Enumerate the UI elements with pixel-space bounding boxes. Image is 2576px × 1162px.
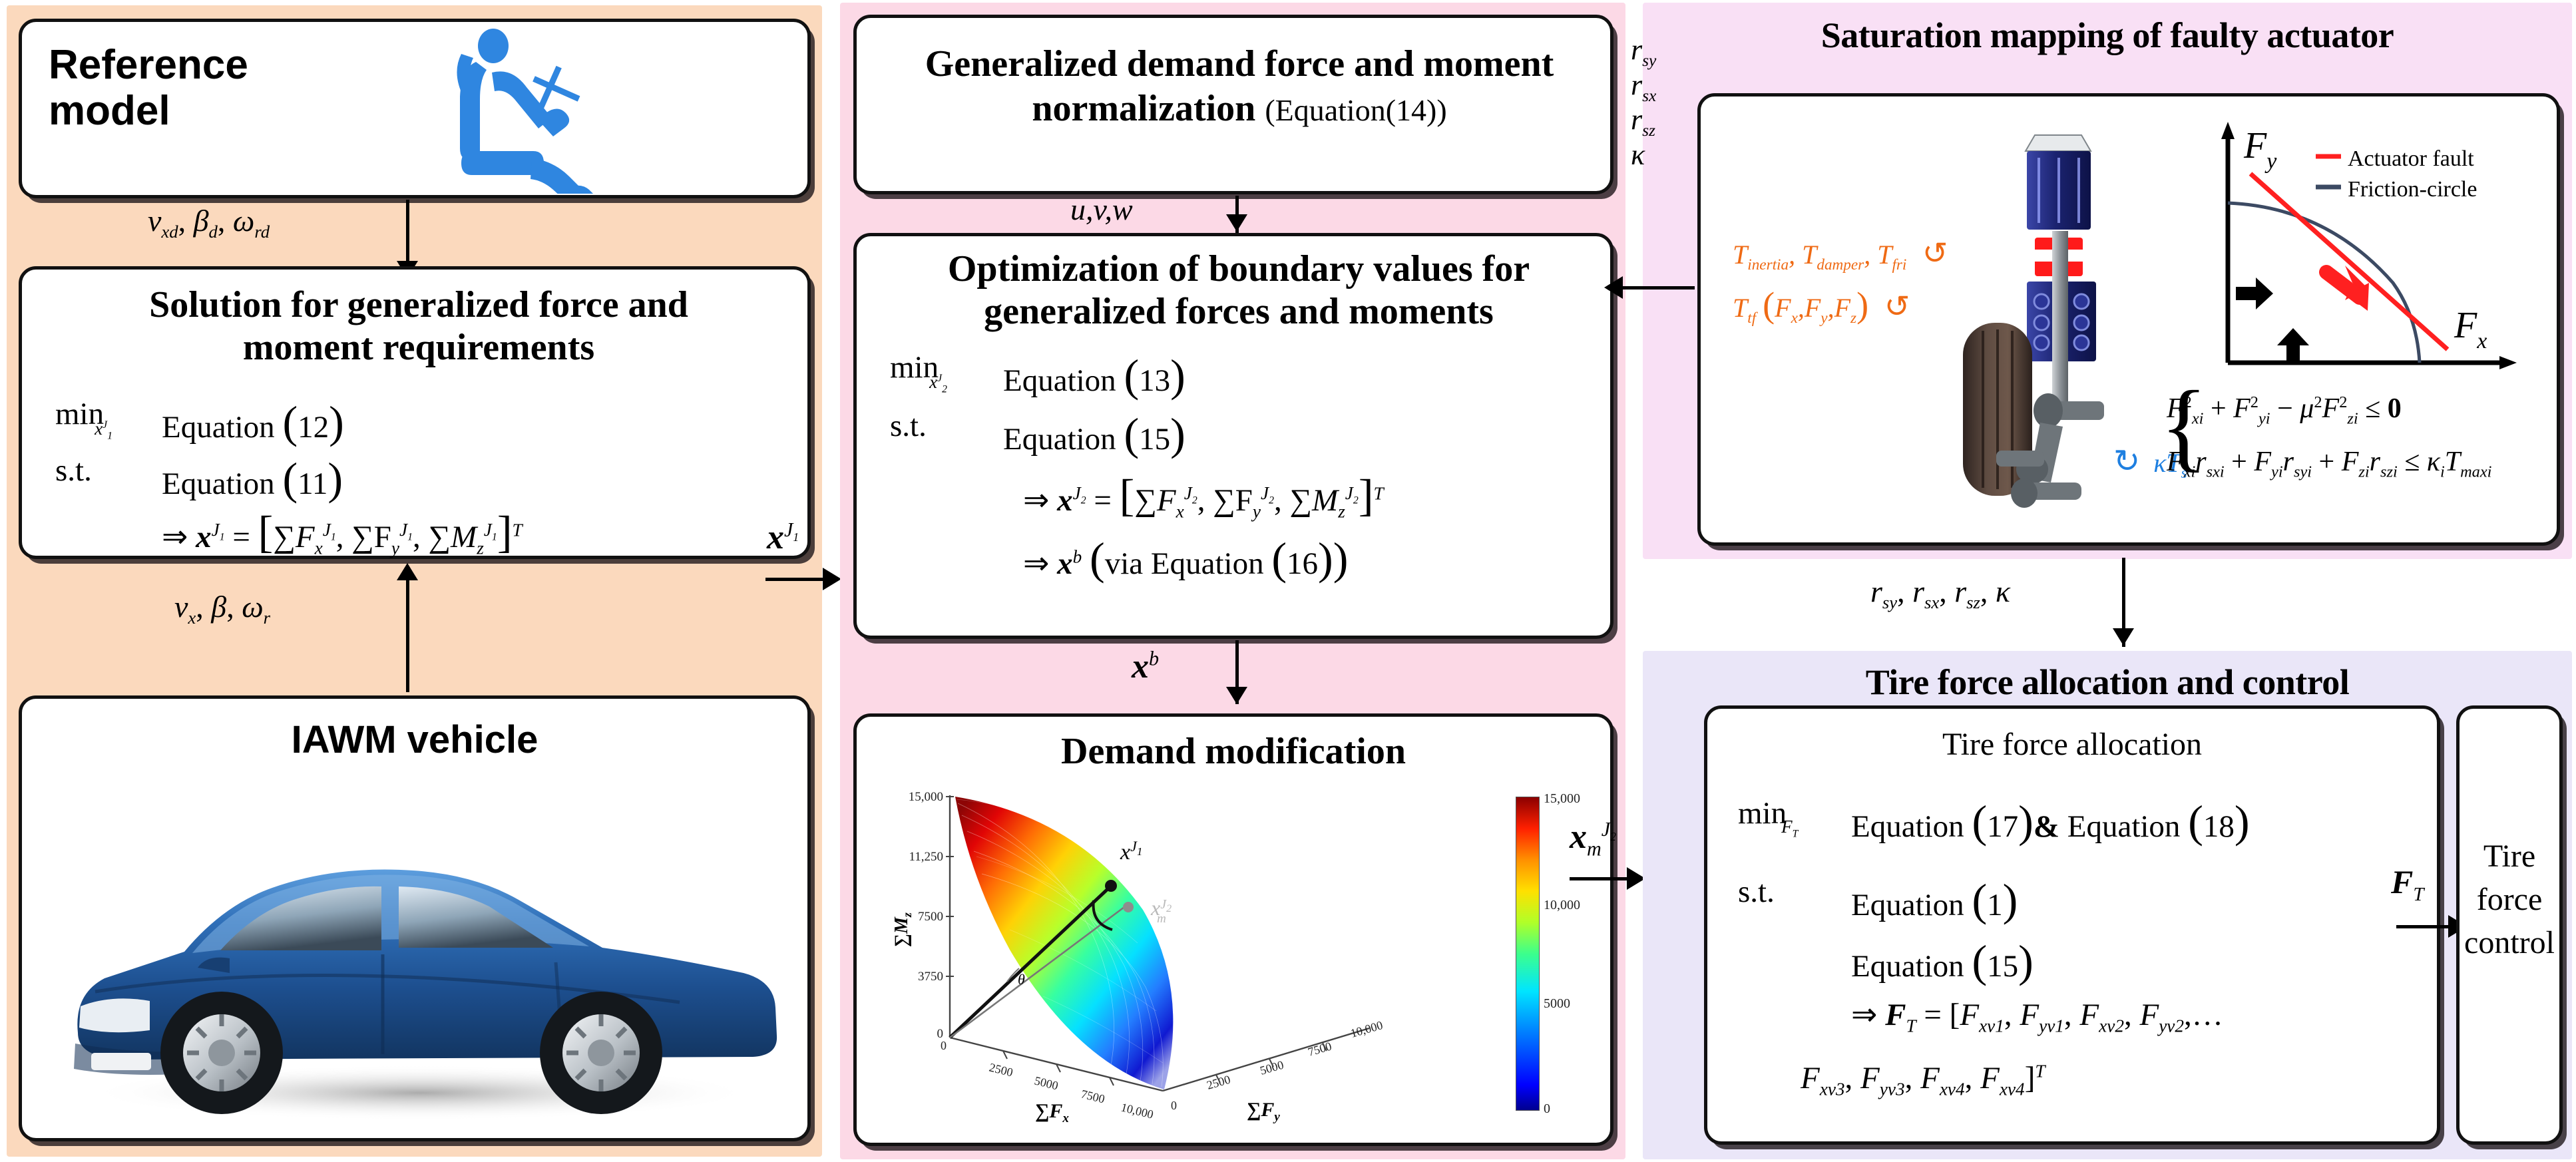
colorbar-tick-0: 0: [1544, 1101, 1550, 1117]
svg-text:10,000: 10,000: [1349, 1018, 1385, 1040]
optimization-result-vector: ⇒ xJ2 = [∑FxJ2, ∑FyJ2, ∑MzJ2]T: [1023, 469, 1384, 522]
allocation-st-equation-1: Equation (1): [1851, 874, 2018, 926]
svg-text:7500: 7500: [918, 910, 943, 924]
tire-force-allocation-box: Tire force allocation minFT Equation (17…: [1704, 705, 2440, 1145]
arrowhead-optimization-to-demand: [1226, 687, 1247, 704]
optimization-min-equation: Equation (13): [1003, 349, 1185, 402]
surface-colorbar: [1516, 797, 1540, 1111]
friction-plot-xlabel: Fx: [2454, 305, 2487, 353]
svg-text:15,000: 15,000: [909, 790, 943, 804]
driver-seat-icon: [415, 27, 621, 194]
colorbar-tick-10000: 10,000: [1544, 898, 1580, 913]
allocation-st-equation-2: Equation (15): [1851, 935, 2034, 988]
reference-model-box: Reference model: [19, 19, 811, 198]
label-kappa: κ: [1631, 140, 1656, 170]
torque-line-2: Ttf (Fx,Fy,Fz) ↻: [1733, 278, 1948, 333]
optimization-boundary-values-box: Optimization of boundary values for gene…: [853, 233, 1613, 639]
flowchart-root: Reference model vxd, βd, ωrd Solut: [0, 0, 2576, 1162]
svg-text:10,000: 10,000: [1120, 1100, 1155, 1121]
svg-text:2500: 2500: [988, 1060, 1014, 1079]
svg-text:2500: 2500: [1205, 1073, 1232, 1092]
connector-label-xb: xb: [1132, 647, 1159, 686]
solution-st-label: s.t.: [55, 453, 92, 488]
reference-model-title: Reference model: [49, 42, 328, 134]
allocation-subtitle: Tire force allocation: [1707, 726, 2437, 763]
svg-text:11,250: 11,250: [909, 850, 943, 864]
demand-modification-box: Demand modification: [853, 713, 1613, 1146]
zaxis-label: ∑Mz: [891, 912, 914, 947]
solution-min-equation: Equation (12): [162, 396, 344, 449]
solution-title-line2: moment requirements: [243, 327, 594, 368]
tfc-line3: control: [2464, 925, 2555, 960]
tire-force-control-box: Tire force control: [2456, 705, 2563, 1145]
iawm-vehicle-box: IAWM vehicle: [19, 695, 811, 1141]
connector-saturation-to-optimization: [1621, 286, 1695, 290]
annotation-xJ1: xJ1: [1120, 838, 1142, 865]
actuator-torque-expressions: Tinertia, Tdamper, Tfri ↻ Ttf (Fx,Fy,Fz)…: [1733, 230, 1948, 333]
solution-title-line1: Solution for generalized force and: [149, 284, 688, 325]
arrowhead-normalization-to-optimization: [1226, 214, 1247, 232]
connector-allocation-to-control: [2396, 925, 2451, 928]
allocation-st-label: s.t.: [1738, 874, 1775, 910]
reference-model-title-line1: Reference: [49, 42, 248, 88]
allocation-result-line2: Fxv3, Fyv3, Fxv4, Fxv4]T: [1801, 1060, 2045, 1099]
optimization-st-label: s.t.: [890, 408, 927, 444]
label-rsy: rsy: [1631, 35, 1656, 70]
saturation-mapping-box: Tinertia, Tdamper, Tfri ↻ Ttf (Fx,Fy,Fz)…: [1697, 93, 2560, 546]
optimization-title-line2: generalized forces and moments: [984, 291, 1494, 332]
rotation-arrow-icon-2: ↻: [1884, 283, 1910, 330]
tfc-line2: force: [2477, 882, 2543, 917]
optimization-min-label: minxJ2: [890, 349, 957, 385]
connector-label-vxd-betad-omegard: vxd, βd, ωrd: [148, 203, 270, 242]
connector-left-to-middle: [765, 578, 824, 581]
friction-circle-plot: Fy Fx Actuator fault Friction-circle: [2193, 116, 2539, 383]
arrowhead-vehicle-to-solution: [397, 563, 418, 580]
connector-label-uvw: u,v,w: [1070, 192, 1133, 227]
connector-vehicle-to-solution: [406, 579, 409, 692]
xaxis-label: ∑Fx: [1035, 1100, 1069, 1125]
solution-box-title: Solution for generalized force and momen…: [39, 284, 798, 369]
colorbar-tick-15000: 15,000: [1544, 791, 1580, 807]
rotation-arrow-icon-1: ↻: [1922, 230, 1948, 277]
connector-label-vx-beta-omegar: vx, β, ωr: [174, 589, 270, 628]
blue-sedan-car-image: [55, 792, 781, 1125]
demand-modification-title: Demand modification: [857, 730, 1610, 773]
svg-text:0: 0: [1171, 1099, 1177, 1112]
svg-text:5000: 5000: [1033, 1073, 1060, 1092]
solution-min-label: minxJ1: [55, 396, 122, 432]
optimization-title: Optimization of boundary values for gene…: [874, 248, 1604, 333]
annotation-xmJ2: xJ2m: [1150, 896, 1172, 926]
connector-label-rs-kappa-vertical: rsy rsx rsz κ: [1631, 35, 1656, 170]
optimization-title-line1: Optimization of boundary values for: [948, 248, 1530, 290]
iawm-vehicle-title: IAWM vehicle: [22, 717, 807, 762]
connector-label-rs-kappa-horizontal: rsy, rsx, rsz, κ: [1870, 574, 2010, 613]
svg-text:7500: 7500: [1080, 1087, 1106, 1105]
connector-middle-to-allocation: [1570, 877, 1629, 880]
svg-text:0: 0: [941, 1039, 947, 1052]
normalization-equation-ref: (Equation(14)): [1265, 93, 1446, 127]
allocation-panel-title: Tire force allocation and control: [1643, 662, 2572, 703]
optimization-result-xb: ⇒ xb (via Equation (16)): [1023, 532, 1348, 585]
svg-text:θ: θ: [1018, 971, 1025, 988]
yaxis-label: ∑Fy: [1247, 1099, 1280, 1124]
optimization-st-equation: Equation (15): [1003, 408, 1185, 461]
reference-model-title-line2: model: [49, 88, 170, 134]
constraint-steering-torque: Fxirsxi + Fyirsyi + Fzirszi ≤ κiTmaxi: [2167, 436, 2491, 489]
arrowhead-saturation-to-optimization: [1604, 276, 1623, 299]
solution-st-equation: Equation (11): [162, 453, 343, 505]
arrowhead-left-to-middle: [823, 568, 841, 590]
saturation-panel-title: Saturation mapping of faulty actuator: [1643, 15, 2572, 56]
svg-text:3750: 3750: [918, 970, 943, 984]
connector-label-xJ1: xJ1: [767, 518, 799, 557]
generalized-demand-normalization-box: Generalized demand force and moment norm…: [853, 15, 1613, 194]
allocation-min-equation: Equation (17)& Equation (18): [1851, 795, 2250, 848]
allocation-result-line1: ⇒ FT = [Fxv1, Fyv1, Fxv2, Fyv2,…: [1851, 996, 2223, 1036]
label-rsz: rsz: [1631, 104, 1656, 140]
colorbar-tick-5000: 5000: [1544, 996, 1570, 1012]
allocation-min-label: minFT: [1738, 795, 1803, 831]
constraint-friction-ellipse: F2xi + F2yi − μ2F2zi ≤ 0: [2167, 383, 2491, 436]
friction-plot-ylabel: Fy: [2243, 125, 2277, 174]
connector-reference-to-solution: [406, 200, 409, 264]
normalization-title: Generalized demand force and moment norm…: [877, 42, 1602, 131]
legend-friction-circle: Friction-circle: [2348, 177, 2477, 202]
tfc-line1: Tire: [2483, 839, 2535, 874]
saturation-constraints: F2xi + F2yi − μ2F2zi ≤ 0 Fxirsxi + Fyirs…: [2167, 383, 2491, 489]
svg-text:7500: 7500: [1307, 1040, 1333, 1059]
legend-actuator-fault: Actuator fault: [2348, 146, 2474, 171]
solution-generalized-force-box: Solution for generalized force and momen…: [19, 266, 811, 559]
torque-line-1: Tinertia, Tdamper, Tfri ↻: [1733, 230, 1948, 278]
solution-result-vector: ⇒ xJ1 = [∑FxJ1, ∑FyJ1, ∑MzJ1]T: [162, 506, 523, 558]
label-rsx: rsx: [1631, 70, 1656, 105]
arrowhead-saturation-to-allocation: [2113, 628, 2134, 646]
connector-label-FT: FT: [2391, 863, 2424, 906]
normalization-title-text: Generalized demand force and moment norm…: [925, 43, 1554, 129]
tire-force-control-text: Tire force control: [2460, 835, 2559, 964]
connector-label-xmJ2: xmJ2: [1570, 817, 1616, 861]
demand-modification-surface-plot: θ xJ1 xJ2m 15,000 11,250 7500 3750 0 ∑Mz: [877, 777, 1502, 1136]
